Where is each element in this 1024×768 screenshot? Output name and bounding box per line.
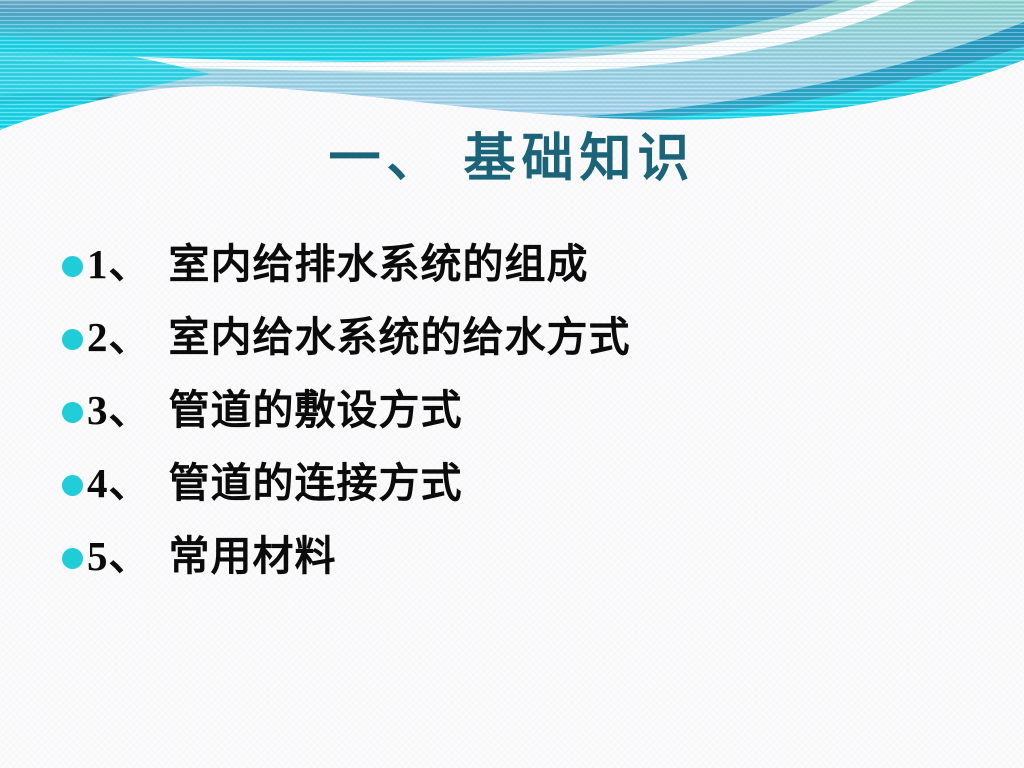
- topic-list: 1、 室内给排水系统的组成 2、 室内给水系统的给水方式 3、 管道的敷设方式 …: [62, 228, 962, 593]
- bullet-dot-icon: [62, 475, 83, 496]
- slide-content: 一、 基础知识 1、 室内给排水系统的组成 2、 室内给水系统的给水方式 3、 …: [0, 0, 1024, 768]
- bullet-dot-icon: [62, 548, 83, 569]
- list-item[interactable]: 2、 室内给水系统的给水方式: [62, 301, 962, 374]
- list-item-label: 管道的敷设方式: [169, 390, 463, 431]
- list-item[interactable]: 1、 室内给排水系统的组成: [62, 228, 962, 301]
- list-item-label: 室内给排水系统的组成: [169, 244, 589, 285]
- list-item-label: 室内给水系统的给水方式: [169, 317, 631, 358]
- list-item-number: 2、: [87, 317, 151, 358]
- presentation-slide: 一、 基础知识 1、 室内给排水系统的组成 2、 室内给水系统的给水方式 3、 …: [0, 0, 1024, 768]
- list-item[interactable]: 3、 管道的敷设方式: [62, 374, 962, 447]
- bullet-dot-icon: [62, 402, 83, 423]
- list-item[interactable]: 4、 管道的连接方式: [62, 447, 962, 520]
- list-item-label: 常用材料: [169, 536, 337, 577]
- list-item-number: 5、: [87, 536, 151, 577]
- list-item-label: 管道的连接方式: [169, 463, 463, 504]
- list-item-number: 1、: [87, 244, 151, 285]
- bullet-dot-icon: [62, 329, 83, 350]
- list-item[interactable]: 5、 常用材料: [62, 520, 962, 593]
- slide-title: 一、 基础知识: [0, 131, 1024, 189]
- list-item-number: 3、: [87, 390, 151, 431]
- bullet-dot-icon: [62, 256, 83, 277]
- list-item-number: 4、: [87, 463, 151, 504]
